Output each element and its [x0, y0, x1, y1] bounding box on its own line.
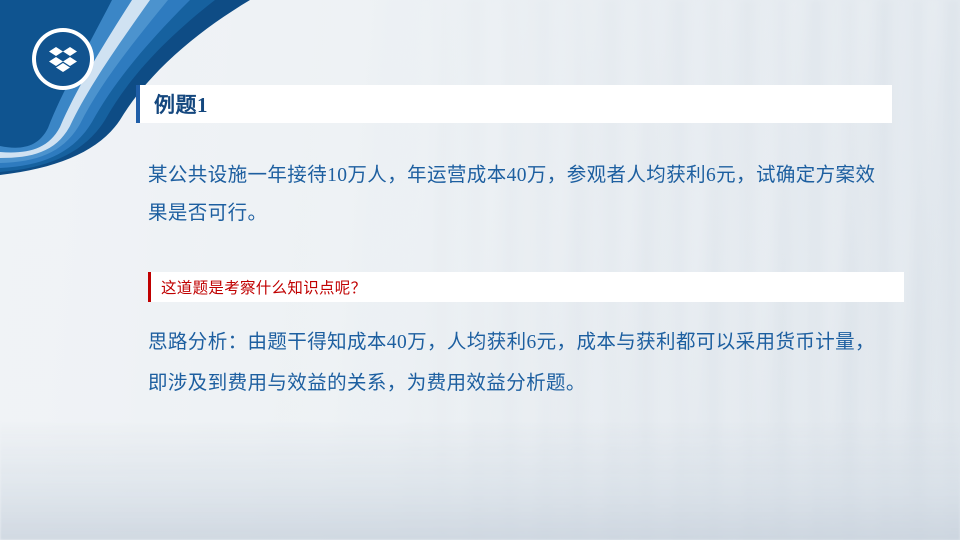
background-bottom-shadow	[0, 420, 960, 540]
slide-title-bar: 例题1	[136, 85, 892, 123]
presentation-slide: 例题1 某公共设施一年接待10万人，年运营成本40万，参观者人均获利6元，试确定…	[0, 0, 960, 540]
question-prompt-text: 这道题是考察什么知识点呢？	[161, 276, 366, 298]
problem-statement: 某公共设施一年接待10万人，年运营成本40万，参观者人均获利6元，试确定方案效果…	[148, 157, 888, 233]
slide-title: 例题1	[154, 89, 208, 119]
analysis-paragraph: 思路分析：由题干得知成本40万，人均获利6元，成本与获利都可以采用货币计量，即涉…	[148, 322, 890, 404]
question-prompt-bar: 这道题是考察什么知识点呢？	[148, 272, 904, 302]
dropbox-logo-icon	[49, 46, 77, 72]
logo-badge	[36, 32, 90, 86]
